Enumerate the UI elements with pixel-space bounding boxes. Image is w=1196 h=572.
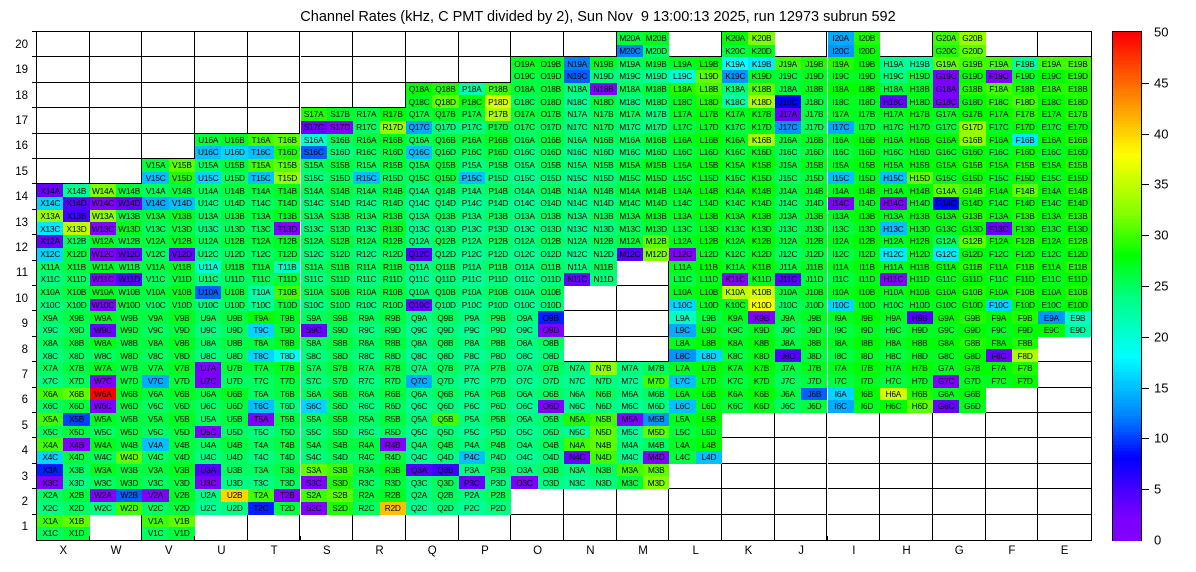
- channel-M3D: M3D: [643, 476, 669, 489]
- channel-K9A: K9A: [722, 311, 748, 324]
- channel-S5B: S5B: [327, 413, 353, 426]
- grid-cell-N10: [564, 286, 617, 311]
- grid-cell-R9: R9AR9BR9CR9D: [353, 311, 406, 336]
- channel-V2A: V2A: [142, 489, 168, 502]
- channel-M12C: M12C: [617, 248, 643, 261]
- channel-R10D: R10D: [380, 299, 406, 312]
- channel-G20D: G20D: [959, 45, 985, 58]
- channel-F10D: F10D: [1012, 299, 1038, 312]
- channel-U2A: U2A: [195, 489, 221, 502]
- grid-cell-X9: X9AX9BX9CX9D: [37, 311, 90, 336]
- channel-T2A: T2A: [248, 489, 274, 502]
- channel-S17C: S17C: [301, 121, 327, 134]
- channel-O17C: O17C: [511, 121, 537, 134]
- channel-E14B: E14B: [1065, 184, 1091, 197]
- grid-cell-W4: W4AW4BW4CW4D: [90, 438, 143, 463]
- channel-J6D: J6D: [801, 400, 827, 413]
- channel-L8A: L8A: [669, 337, 695, 350]
- channel-V15B: V15B: [169, 159, 195, 172]
- x-tick-mark: [563, 536, 564, 541]
- channel-I7D: I7D: [854, 375, 880, 388]
- channel-R2C: R2C: [353, 502, 379, 515]
- channel-S16A: S16A: [301, 134, 327, 147]
- y-tick-label-2: 2: [22, 496, 28, 508]
- channel-W10A: W10A: [90, 286, 116, 299]
- channel-V10B: V10B: [169, 286, 195, 299]
- channel-S6A: S6A: [301, 388, 327, 401]
- channel-I18D: I18D: [854, 95, 880, 108]
- channel-O18B: O18B: [538, 83, 564, 96]
- grid-cell-Q15: Q15AQ15BQ15CQ15D: [406, 159, 459, 184]
- channel-J19D: J19D: [801, 70, 827, 83]
- channel-V5D: V5D: [169, 426, 195, 439]
- channel-X8A: X8A: [37, 337, 63, 350]
- channel-I8D: I8D: [854, 349, 880, 362]
- channel-P2B: P2B: [485, 489, 511, 502]
- channel-X13D: X13D: [63, 222, 89, 235]
- channel-G7C: G7C: [933, 375, 959, 388]
- channel-J15C: J15C: [775, 172, 801, 185]
- channel-S15A: S15A: [301, 159, 327, 172]
- grid-cell-J2: [775, 489, 828, 514]
- channel-K15A: K15A: [722, 159, 748, 172]
- grid-cell-T15: T15AT15BT15CT15D: [248, 159, 301, 184]
- channel-X8C: X8C: [37, 349, 63, 362]
- channel-O5B: O5B: [538, 413, 564, 426]
- channel-P15B: P15B: [485, 159, 511, 172]
- grid-cell-H9: H9AH9BH9CH9D: [880, 311, 933, 336]
- y-tick-label-19: 19: [15, 64, 28, 76]
- channel-R7B: R7B: [380, 362, 406, 375]
- grid-cell-T13: T13AT13BT13CT13D: [248, 210, 301, 235]
- channel-G12D: G12D: [959, 248, 985, 261]
- grid-cell-J10: J10AJ10BJ10CJ10D: [775, 286, 828, 311]
- y-tick-mark: [32, 82, 37, 83]
- channel-Q18B: Q18B: [432, 83, 458, 96]
- channel-O19B: O19B: [538, 57, 564, 70]
- channel-W7D: W7D: [116, 375, 142, 388]
- x-tick-mark: [89, 536, 90, 541]
- channel-L15D: L15D: [696, 172, 722, 185]
- channel-V9D: V9D: [169, 324, 195, 337]
- channel-U4D: U4D: [221, 451, 247, 464]
- channel-J8D: J8D: [801, 349, 827, 362]
- channel-O8D: O8D: [538, 349, 564, 362]
- channel-E17A: E17A: [1038, 108, 1064, 121]
- grid-cell-U5: U5AU5BU5CU5D: [195, 413, 248, 438]
- channel-K19C: K19C: [722, 70, 748, 83]
- channel-T10A: T10A: [248, 286, 274, 299]
- channel-H13A: H13A: [880, 210, 906, 223]
- channel-W10C: W10C: [90, 299, 116, 312]
- channel-I9D: I9D: [854, 324, 880, 337]
- channel-L7D: L7D: [696, 375, 722, 388]
- channel-L13A: L13A: [669, 210, 695, 223]
- grid-cell-G7: G7AG7BG7CG7D: [933, 362, 986, 387]
- channel-E13C: E13C: [1038, 222, 1064, 235]
- channel-Q16B: Q16B: [432, 134, 458, 147]
- channel-K18C: K18C: [722, 95, 748, 108]
- channel-K11C: K11C: [722, 273, 748, 286]
- y-tick-label-12: 12: [15, 242, 28, 254]
- channel-J6A: J6A: [775, 388, 801, 401]
- channel-H17B: H17B: [907, 108, 933, 121]
- channel-P10C: P10C: [459, 299, 485, 312]
- grid-cell-K12: K12AK12BK12CK12D: [722, 235, 775, 260]
- channel-L12B: L12B: [696, 235, 722, 248]
- channel-R16B: R16B: [380, 134, 406, 147]
- channel-F9D: F9D: [1012, 324, 1038, 337]
- x-tick-mark: [879, 536, 880, 541]
- grid-cell-K20: K20AK20BK20CK20D: [722, 32, 775, 57]
- channel-J11C: J11C: [775, 273, 801, 286]
- channel-L5A: L5A: [669, 413, 695, 426]
- channel-Q10A: Q10A: [406, 286, 432, 299]
- grid-cell-E12: E12AE12BE12CE12D: [1038, 235, 1091, 260]
- x-tick-mark: [616, 536, 617, 541]
- channel-G15B: G15B: [959, 159, 985, 172]
- channel-I13D: I13D: [854, 222, 880, 235]
- grid-cell-H5: [880, 413, 933, 438]
- channel-L10A: L10A: [669, 286, 695, 299]
- channel-W5D: W5D: [116, 426, 142, 439]
- grid-cell-R10: R10AR10BR10CR10D: [353, 286, 406, 311]
- channel-W6B: W6B: [116, 388, 142, 401]
- grid-cell-I18: I18AI18BI18CI18D: [828, 83, 881, 108]
- channel-I16C: I16C: [828, 146, 854, 159]
- channel-M7C: M7C: [617, 375, 643, 388]
- channel-J6C: J6C: [775, 400, 801, 413]
- channel-W3A: W3A: [90, 464, 116, 477]
- grid-cell-N1: [564, 515, 617, 540]
- channel-R12C: R12C: [353, 248, 379, 261]
- channel-T6C: T6C: [248, 400, 274, 413]
- grid-cell-P5: P5AP5BP5CP5D: [459, 413, 512, 438]
- channel-V4D: V4D: [169, 451, 195, 464]
- grid-cell-V16: [142, 134, 195, 159]
- channel-L16D: L16D: [696, 146, 722, 159]
- channel-F16D: F16D: [1012, 146, 1038, 159]
- colorbar-tick-mark: [1142, 134, 1149, 135]
- grid-cell-F10: F10AF10BF10CF10D: [986, 286, 1039, 311]
- channel-R15D: R15D: [380, 172, 406, 185]
- grid-cell-R19: [353, 57, 406, 82]
- grid-cell-L6: L6AL6BL6CL6D: [669, 388, 722, 413]
- channel-V7D: V7D: [169, 375, 195, 388]
- channel-J18D: J18D: [801, 95, 827, 108]
- grid-cell-F12: F12AF12BF12CF12D: [986, 235, 1039, 260]
- channel-Q8A: Q8A: [406, 337, 432, 350]
- channel-V2B: V2B: [169, 489, 195, 502]
- channel-M4C: M4C: [617, 451, 643, 464]
- y-tick-mark: [32, 387, 37, 388]
- x-axis: XWVUTSRQPONMLKJIHGFE: [36, 543, 1092, 567]
- channel-O18A: O18A: [511, 83, 537, 96]
- channel-Q9C: Q9C: [406, 324, 432, 337]
- y-tick-mark: [32, 183, 37, 184]
- channel-O16C: O16C: [511, 146, 537, 159]
- channel-M20A: M20A: [617, 32, 643, 45]
- channel-J13B: J13B: [801, 210, 827, 223]
- channel-P5B: P5B: [485, 413, 511, 426]
- channel-U16D: U16D: [221, 146, 247, 159]
- y-tick-mark: [32, 437, 37, 438]
- colorbar-tick-mark: [1142, 184, 1149, 185]
- grid-cell-P3: P3AP3BP3CP3D: [459, 464, 512, 489]
- channel-J19B: J19B: [801, 57, 827, 70]
- channel-O15B: O15B: [538, 159, 564, 172]
- channel-H16C: H16C: [880, 146, 906, 159]
- channel-H8C: H8C: [880, 349, 906, 362]
- channel-N7B: N7B: [590, 362, 616, 375]
- channel-W13A: W13A: [90, 210, 116, 223]
- channel-F10C: F10C: [986, 299, 1012, 312]
- channel-S8D: S8D: [327, 349, 353, 362]
- grid-cell-W20: [90, 32, 143, 57]
- channel-T16C: T16C: [248, 146, 274, 159]
- channel-F9A: F9A: [986, 311, 1012, 324]
- page-title: Channel Rates (kHz, C PMT divided by 2),…: [0, 9, 1196, 25]
- channel-W14C: W14C: [90, 197, 116, 210]
- channel-E18C: E18C: [1038, 95, 1064, 108]
- channel-O9B: O9B: [538, 311, 564, 324]
- channel-J17C: J17C: [775, 121, 801, 134]
- grid-cell-N3: N3AN3BN3CN3D: [564, 464, 617, 489]
- channel-U16C: U16C: [195, 146, 221, 159]
- channel-P2A: P2A: [459, 489, 485, 502]
- channel-N14A: N14A: [564, 184, 590, 197]
- grid-cell-F16: F16AF16BF16CF16D: [986, 134, 1039, 159]
- channel-L18D: L18D: [696, 95, 722, 108]
- channel-E10B: E10B: [1065, 286, 1091, 299]
- channel-P2D: P2D: [485, 502, 511, 515]
- channel-V11D: V11D: [169, 273, 195, 286]
- grid-cell-X13: X13AX13BX13CX13D: [37, 210, 90, 235]
- grid-cell-O7: O7AO7BO7CO7D: [511, 362, 564, 387]
- grid-cell-V4: V4AV4BV4CV4D: [142, 438, 195, 463]
- channel-L11A: L11A: [669, 261, 695, 274]
- channel-O8C: O8C: [511, 349, 537, 362]
- channel-M5A: M5A: [617, 413, 643, 426]
- grid-cell-Q14: Q14AQ14BQ14CQ14D: [406, 184, 459, 209]
- grid-cell-E6: [1038, 388, 1091, 413]
- channel-S13D: S13D: [327, 222, 353, 235]
- channel-Q3D: Q3D: [432, 476, 458, 489]
- channel-H13C: H13C: [880, 222, 906, 235]
- grid-cell-M10: [617, 286, 670, 311]
- grid-cell-J7: J7AJ7BJ7CJ7D: [775, 362, 828, 387]
- channel-O11A: O11A: [511, 261, 537, 274]
- channel-Q11C: Q11C: [406, 273, 432, 286]
- channel-H14C: H14C: [880, 197, 906, 210]
- channel-P14B: P14B: [485, 184, 511, 197]
- x-tick-mark: [721, 536, 722, 541]
- channel-G11B: G11B: [959, 261, 985, 274]
- grid-cell-E11: E11AE11BE11CE11D: [1038, 261, 1091, 286]
- channel-K6D: K6D: [748, 400, 774, 413]
- channel-N17D: N17D: [590, 121, 616, 134]
- channel-F17C: F17C: [986, 121, 1012, 134]
- channel-K11D: K11D: [748, 273, 774, 286]
- channel-L19D: L19D: [696, 70, 722, 83]
- grid-cell-Q17: Q17AQ17BQ17CQ17D: [406, 108, 459, 133]
- channel-I20D: I20D: [854, 45, 880, 58]
- channel-N18A: N18A: [564, 83, 590, 96]
- channel-R8A: R8A: [353, 337, 379, 350]
- grid-cell-W1: [90, 515, 143, 540]
- colorbar-label-40: 40: [1154, 126, 1168, 141]
- grid-cell-I3: [828, 464, 881, 489]
- grid-cell-G5: [933, 413, 986, 438]
- channel-E11D: E11D: [1065, 273, 1091, 286]
- channel-X8B: X8B: [63, 337, 89, 350]
- channel-L7A: L7A: [669, 362, 695, 375]
- grid-cell-K9: K9AK9BK9CK9D: [722, 311, 775, 336]
- channel-V13B: V13B: [169, 210, 195, 223]
- channel-S14C: S14C: [301, 197, 327, 210]
- x-tick-mark: [932, 536, 933, 541]
- channel-V6D: V6D: [169, 400, 195, 413]
- channel-H13D: H13D: [907, 222, 933, 235]
- channel-S6D: S6D: [327, 400, 353, 413]
- grid-cell-W12: W12AW12BW12CW12D: [90, 235, 143, 260]
- grid-cell-S5: S5AS5BS5CS5D: [301, 413, 354, 438]
- channel-R12D: R12D: [380, 248, 406, 261]
- channel-Q7C: Q7C: [406, 375, 432, 388]
- channel-E17C: E17C: [1038, 121, 1064, 134]
- channel-T13C: T13C: [248, 222, 274, 235]
- grid-cell-Q20: [406, 32, 459, 57]
- grid-cell-E5: [1038, 413, 1091, 438]
- channel-X6D: X6D: [63, 400, 89, 413]
- channel-I16D: I16D: [854, 146, 880, 159]
- channel-T15B: T15B: [274, 159, 300, 172]
- channel-N6A: N6A: [564, 388, 590, 401]
- x-tick-label-O: O: [533, 545, 542, 557]
- channel-L18A: L18A: [669, 83, 695, 96]
- channel-G6D: G6D: [959, 400, 985, 413]
- x-tick-label-N: N: [586, 545, 594, 557]
- channel-L12A: L12A: [669, 235, 695, 248]
- grid-cell-P1: [459, 515, 512, 540]
- grid-cell-P15: P15AP15BP15CP15D: [459, 159, 512, 184]
- channel-N5D: N5D: [590, 426, 616, 439]
- grid-cell-J3: [775, 464, 828, 489]
- channel-W3B: W3B: [116, 464, 142, 477]
- channel-R11C: R11C: [353, 273, 379, 286]
- channel-W9C: W9C: [90, 324, 116, 337]
- channel-N5B: N5B: [590, 413, 616, 426]
- channel-J18B: J18B: [801, 83, 827, 96]
- channel-P9D: P9D: [485, 324, 511, 337]
- channel-S2B: S2B: [327, 489, 353, 502]
- grid-cell-H4: [880, 438, 933, 463]
- channel-H17D: H17D: [907, 121, 933, 134]
- grid-cell-P12: P12AP12BP12CP12D: [459, 235, 512, 260]
- channel-M6A: M6A: [617, 388, 643, 401]
- channel-Q13A: Q13A: [406, 210, 432, 223]
- channel-P6A: P6A: [459, 388, 485, 401]
- channel-I6B: I6B: [854, 388, 880, 401]
- channel-J9B: J9B: [801, 311, 827, 324]
- grid-cell-U14: U14AU14BU14CU14D: [195, 184, 248, 209]
- channel-O3C: O3C: [511, 476, 537, 489]
- grid-cell-I1: [828, 515, 881, 540]
- channel-W11B: W11B: [116, 261, 142, 274]
- channel-L14D: L14D: [696, 197, 722, 210]
- channel-R10A: R10A: [353, 286, 379, 299]
- channel-M3C: M3C: [617, 476, 643, 489]
- channel-O14B: O14B: [538, 184, 564, 197]
- channel-O14C: O14C: [511, 197, 537, 210]
- channel-K19A: K19A: [722, 57, 748, 70]
- grid-cell-K8: K8AK8BK8CK8D: [722, 337, 775, 362]
- x-tick-label-U: U: [217, 545, 225, 557]
- grid-cell-J14: J14AJ14BJ14CJ14D: [775, 184, 828, 209]
- channel-X5D: X5D: [63, 426, 89, 439]
- channel-P3B: P3B: [485, 464, 511, 477]
- grid-cell-W14: W14AW14BW14CW14D: [90, 184, 143, 209]
- channel-F10B: F10B: [1012, 286, 1038, 299]
- channel-J14B: J14B: [801, 184, 827, 197]
- channel-Q10C: Q10C: [406, 299, 432, 312]
- channel-T3A: T3A: [248, 464, 274, 477]
- channel-V2D: V2D: [169, 502, 195, 515]
- grid-cell-H15: H15AH15BH15CH15D: [880, 159, 933, 184]
- channel-E14A: E14A: [1038, 184, 1064, 197]
- channel-S8B: S8B: [327, 337, 353, 350]
- channel-T10B: T10B: [274, 286, 300, 299]
- channel-T2C: T2C: [248, 502, 274, 515]
- channel-U10D: U10D: [221, 299, 247, 312]
- grid-cell-X6: X6AX6BX6CX6D: [37, 388, 90, 413]
- channel-U10B: U10B: [221, 286, 247, 299]
- channel-U7C: U7C: [195, 375, 221, 388]
- colorbar-label-35: 35: [1154, 177, 1168, 192]
- grid-cell-J6: J6AJ6BJ6CJ6D: [775, 388, 828, 413]
- channel-K14D: K14D: [748, 197, 774, 210]
- channel-R14B: R14B: [380, 184, 406, 197]
- channel-K16D: K16D: [748, 146, 774, 159]
- channel-N14D: N14D: [590, 197, 616, 210]
- channel-R6A: R6A: [353, 388, 379, 401]
- grid-cell-L18: L18AL18BL18CL18D: [669, 83, 722, 108]
- channel-N14B: N14B: [590, 184, 616, 197]
- channel-U3D: U3D: [221, 476, 247, 489]
- channel-G10C: G10C: [933, 299, 959, 312]
- grid-cell-N6: N6AN6BN6CN6D: [564, 388, 617, 413]
- channel-H10B: H10B: [907, 286, 933, 299]
- channel-T11A: T11A: [248, 261, 274, 274]
- channel-R15B: R15B: [380, 159, 406, 172]
- channel-M6D: M6D: [643, 400, 669, 413]
- channel-E18A: E18A: [1038, 83, 1064, 96]
- channel-L9D: L9D: [696, 324, 722, 337]
- channel-K15B: K15B: [748, 159, 774, 172]
- grid-cell-K6: K6AK6BK6CK6D: [722, 388, 775, 413]
- grid-cell-M4: M4AM4BM4CM4D: [617, 438, 670, 463]
- channel-P7B: P7B: [485, 362, 511, 375]
- channel-K8A: K8A: [722, 337, 748, 350]
- channel-G9A: G9A: [933, 311, 959, 324]
- channel-E12C: E12C: [1038, 248, 1064, 261]
- channel-N16B: N16B: [590, 134, 616, 147]
- channel-G9D: G9D: [959, 324, 985, 337]
- grid-cell-I11: I11AI11BI11CI11D: [828, 261, 881, 286]
- channel-H6A: H6A: [880, 388, 906, 401]
- channel-X7C: X7C: [37, 375, 63, 388]
- channel-W5A: W5A: [90, 413, 116, 426]
